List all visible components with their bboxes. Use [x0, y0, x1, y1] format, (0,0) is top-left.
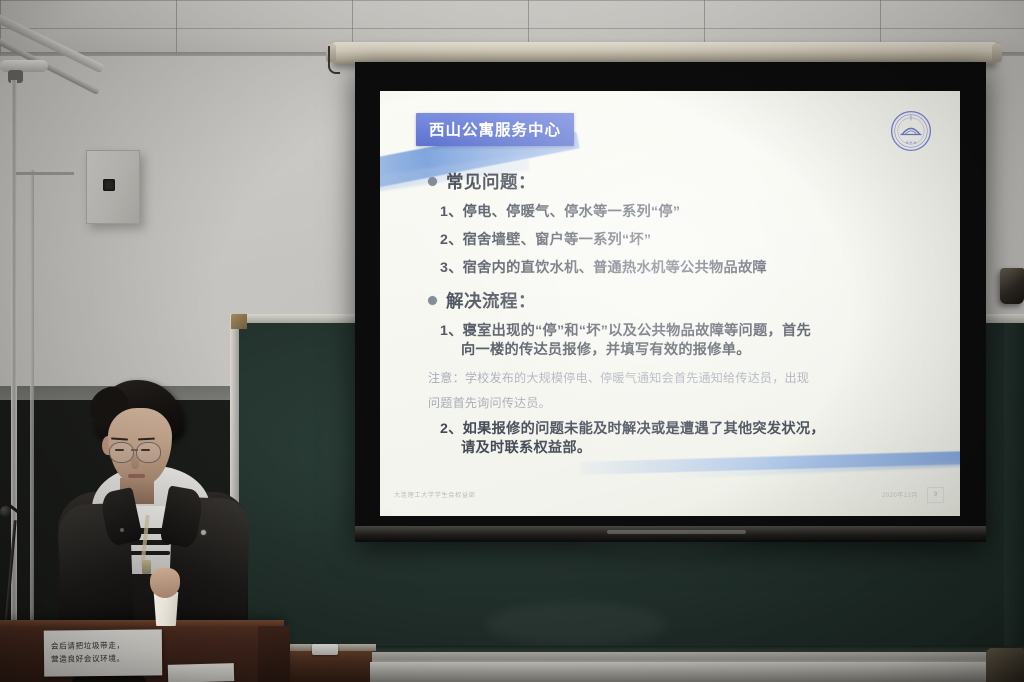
list-item-continuation: 请及时联系权益部。	[461, 439, 934, 458]
slide-section-heading-1: 常见问题：	[428, 169, 934, 194]
podium-sign-line-2: 营造良好会议环境。	[51, 652, 155, 666]
nose	[131, 454, 139, 469]
wall-speaker-box	[86, 150, 140, 224]
bullet-dot-icon	[428, 177, 437, 186]
badge	[142, 560, 151, 574]
slide-footer-left: 大连理工大学学生会权益部	[394, 490, 475, 499]
student-presenter	[58, 380, 248, 640]
list-item-text: 2、如果报修的问题未能及时解决或是遭遇了其他突发状况，	[440, 421, 825, 437]
wall-mounted-device	[1000, 268, 1024, 304]
speaker-grille-icon	[103, 179, 115, 191]
screen-bottom-weight-bar	[355, 526, 986, 542]
list-item-continuation: 向一楼的传达员报修，并填写有效的报修单。	[461, 341, 934, 360]
classroom-photo-scene: 西山公寓服务中心 ＊＊＊ 常见问题： 1、停电、停暖气、停水等一系列“停” 2、…	[0, 0, 1024, 682]
papers-on-podium	[168, 663, 234, 682]
blackboard-right-edge	[1004, 318, 1024, 666]
slide-list-item: 2、如果报修的问题未能及时解决或是遭遇了其他突发状况， 请及时联系权益部。	[440, 420, 934, 458]
section-heading-label: 常见问题：	[446, 169, 536, 194]
slide-section-heading-2: 解决流程：	[428, 288, 934, 313]
projection-screen: 西山公寓服务中心 ＊＊＊ 常见问题： 1、停电、停暖气、停水等一系列“停” 2、…	[355, 62, 986, 542]
roller-cap-right	[992, 44, 1002, 62]
small-box-on-table	[312, 644, 338, 655]
slide-list-item: 1、停电、停暖气、停水等一系列“停”	[440, 203, 934, 222]
bottom-right-object	[986, 648, 1024, 682]
list-item-text: 1、寝室出现的“停”和“坏”以及公共物品故障等问题，首先	[440, 323, 811, 339]
roller-cord	[328, 46, 340, 74]
slide-note-line: 注意：学校发布的大规模停电、停暖气通知会首先通知给传达员，出现	[428, 369, 934, 389]
projector-screen-roller	[332, 42, 997, 64]
svg-text:＊＊＊: ＊＊＊	[905, 140, 917, 145]
jacket-snap-button	[120, 528, 124, 532]
podium-top-surface	[0, 620, 284, 628]
slide-title-banner: 西山公寓服务中心	[416, 113, 574, 146]
microphone-clip	[21, 567, 28, 573]
powerpoint-slide: 西山公寓服务中心 ＊＊＊ 常见问题： 1、停电、停暖气、停水等一系列“停” 2、…	[380, 91, 960, 516]
slide-footer-right: 2020年12月	[882, 490, 918, 499]
slide-list-item: 3、宿舍内的直饮水机、普通热水机等公共物品故障	[440, 259, 934, 278]
glasses-lens-right	[136, 442, 161, 463]
glasses-bridge	[131, 449, 138, 451]
slide-list-item: 2、宿舍墙壁、窗户等一系列“坏”	[440, 231, 934, 250]
podium-sign-line-1: 会后请把垃圾带走，	[51, 640, 155, 654]
podium-notice-sign: 会后请把垃圾带走， 营造良好会议环境。	[44, 629, 162, 676]
slide-page-number: 9	[927, 487, 944, 503]
wall-pipe-horizontal	[0, 60, 48, 72]
section-heading-label: 解决流程：	[446, 288, 536, 313]
bullet-dot-icon	[428, 296, 437, 305]
slide-note-line: 问题首先询问传达员。	[428, 394, 934, 414]
wall-conduit-horizontal	[16, 172, 74, 175]
hand	[150, 568, 180, 598]
podium-side-panel	[258, 626, 290, 682]
university-seal-logo: ＊＊＊	[889, 109, 933, 153]
microphone-head-icon	[0, 506, 11, 517]
wall-conduit-vertical	[30, 170, 34, 625]
jacket-zipper-pull	[201, 530, 206, 535]
slide-list-item: 1、寝室出现的“停”和“坏”以及公共物品故障等问题，首先 向一楼的传达员报修，并…	[440, 322, 934, 360]
slide-content-body: 常见问题： 1、停电、停暖气、停水等一系列“停” 2、宿舍墙壁、窗户等一系列“坏…	[426, 163, 934, 467]
front-table-edge	[370, 662, 1024, 682]
blackboard-corner-bracket	[231, 314, 247, 329]
